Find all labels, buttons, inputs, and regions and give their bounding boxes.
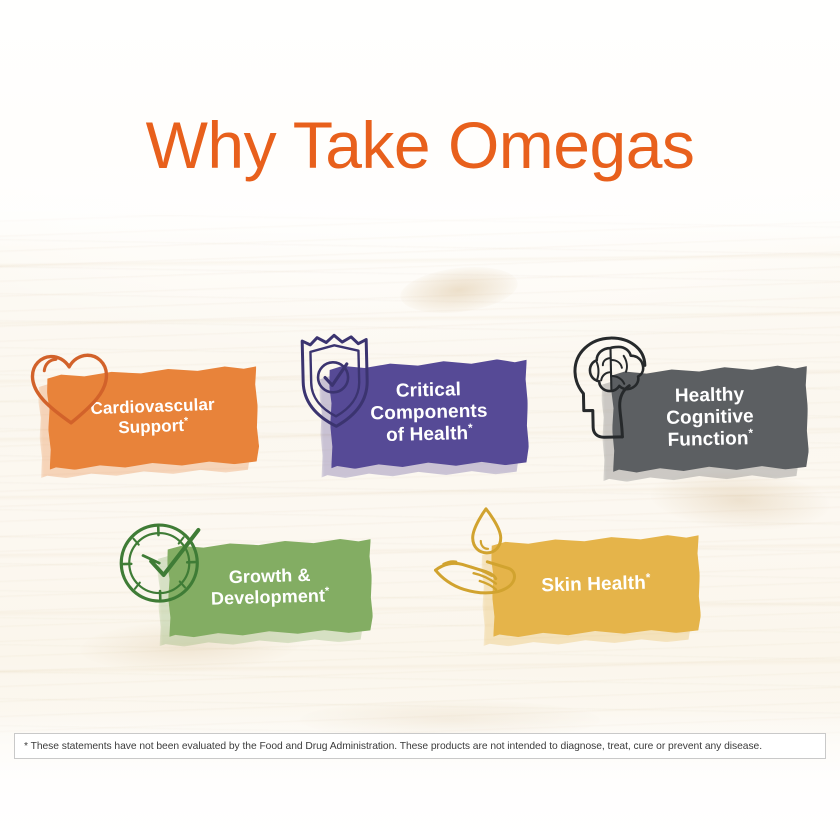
banner-label: Growth & Development* <box>200 564 340 610</box>
banner-cardiovascular: Cardiovascular Support* <box>46 364 259 471</box>
label-line-3: Function <box>667 428 748 451</box>
asterisk-mark: * <box>184 415 189 427</box>
banner-label: Skin Health* <box>531 572 661 597</box>
banner-label: Critical Components of Health* <box>360 378 499 447</box>
label-line-3: of Health <box>386 423 469 446</box>
label-line-2: Development <box>211 585 326 608</box>
disclaimer-banner: * These statements have not been evaluat… <box>14 733 826 759</box>
banner-label: Cardiovascular Support* <box>80 395 226 439</box>
label-line-2: Support <box>118 416 184 437</box>
feature-card-critical-components[interactable]: Critical Components of Health* <box>329 358 530 471</box>
banner-label: Healthy Cognitive Function* <box>656 384 765 452</box>
asterisk-mark: * <box>468 422 473 435</box>
feature-card-growth[interactable]: Growth & Development* <box>167 537 374 639</box>
asterisk-mark: * <box>325 585 330 597</box>
feature-card-cognitive[interactable]: Healthy Cognitive Function* <box>611 364 809 474</box>
asterisk-mark: * <box>646 571 651 584</box>
asterisk-mark: * <box>748 427 753 440</box>
banner-skin: Skin Health* <box>491 533 702 638</box>
infographic-canvas: Why Take Omegas Cardiovascular Support* … <box>0 0 840 840</box>
banner-critical-components: Critical Components of Health* <box>329 358 530 471</box>
wood-knot-1 <box>398 261 520 319</box>
feature-card-cardiovascular[interactable]: Cardiovascular Support* <box>46 364 259 471</box>
background-wash-bottom <box>0 710 840 840</box>
banner-cognitive: Healthy Cognitive Function* <box>611 364 809 474</box>
label-line-1: Skin Health <box>541 573 646 597</box>
label-line-2: Cognitive <box>666 406 754 429</box>
banner-growth: Growth & Development* <box>167 537 374 639</box>
label-line-1: Growth & <box>228 565 310 587</box>
disclaimer-text: * These statements have not been evaluat… <box>24 741 762 752</box>
label-line-1: Critical <box>396 379 462 402</box>
feature-card-skin[interactable]: Skin Health* <box>491 533 702 638</box>
label-line-1: Cardiovascular <box>90 395 215 418</box>
label-line-1: Healthy <box>675 384 745 406</box>
page-title: Why Take Omegas <box>0 112 840 178</box>
